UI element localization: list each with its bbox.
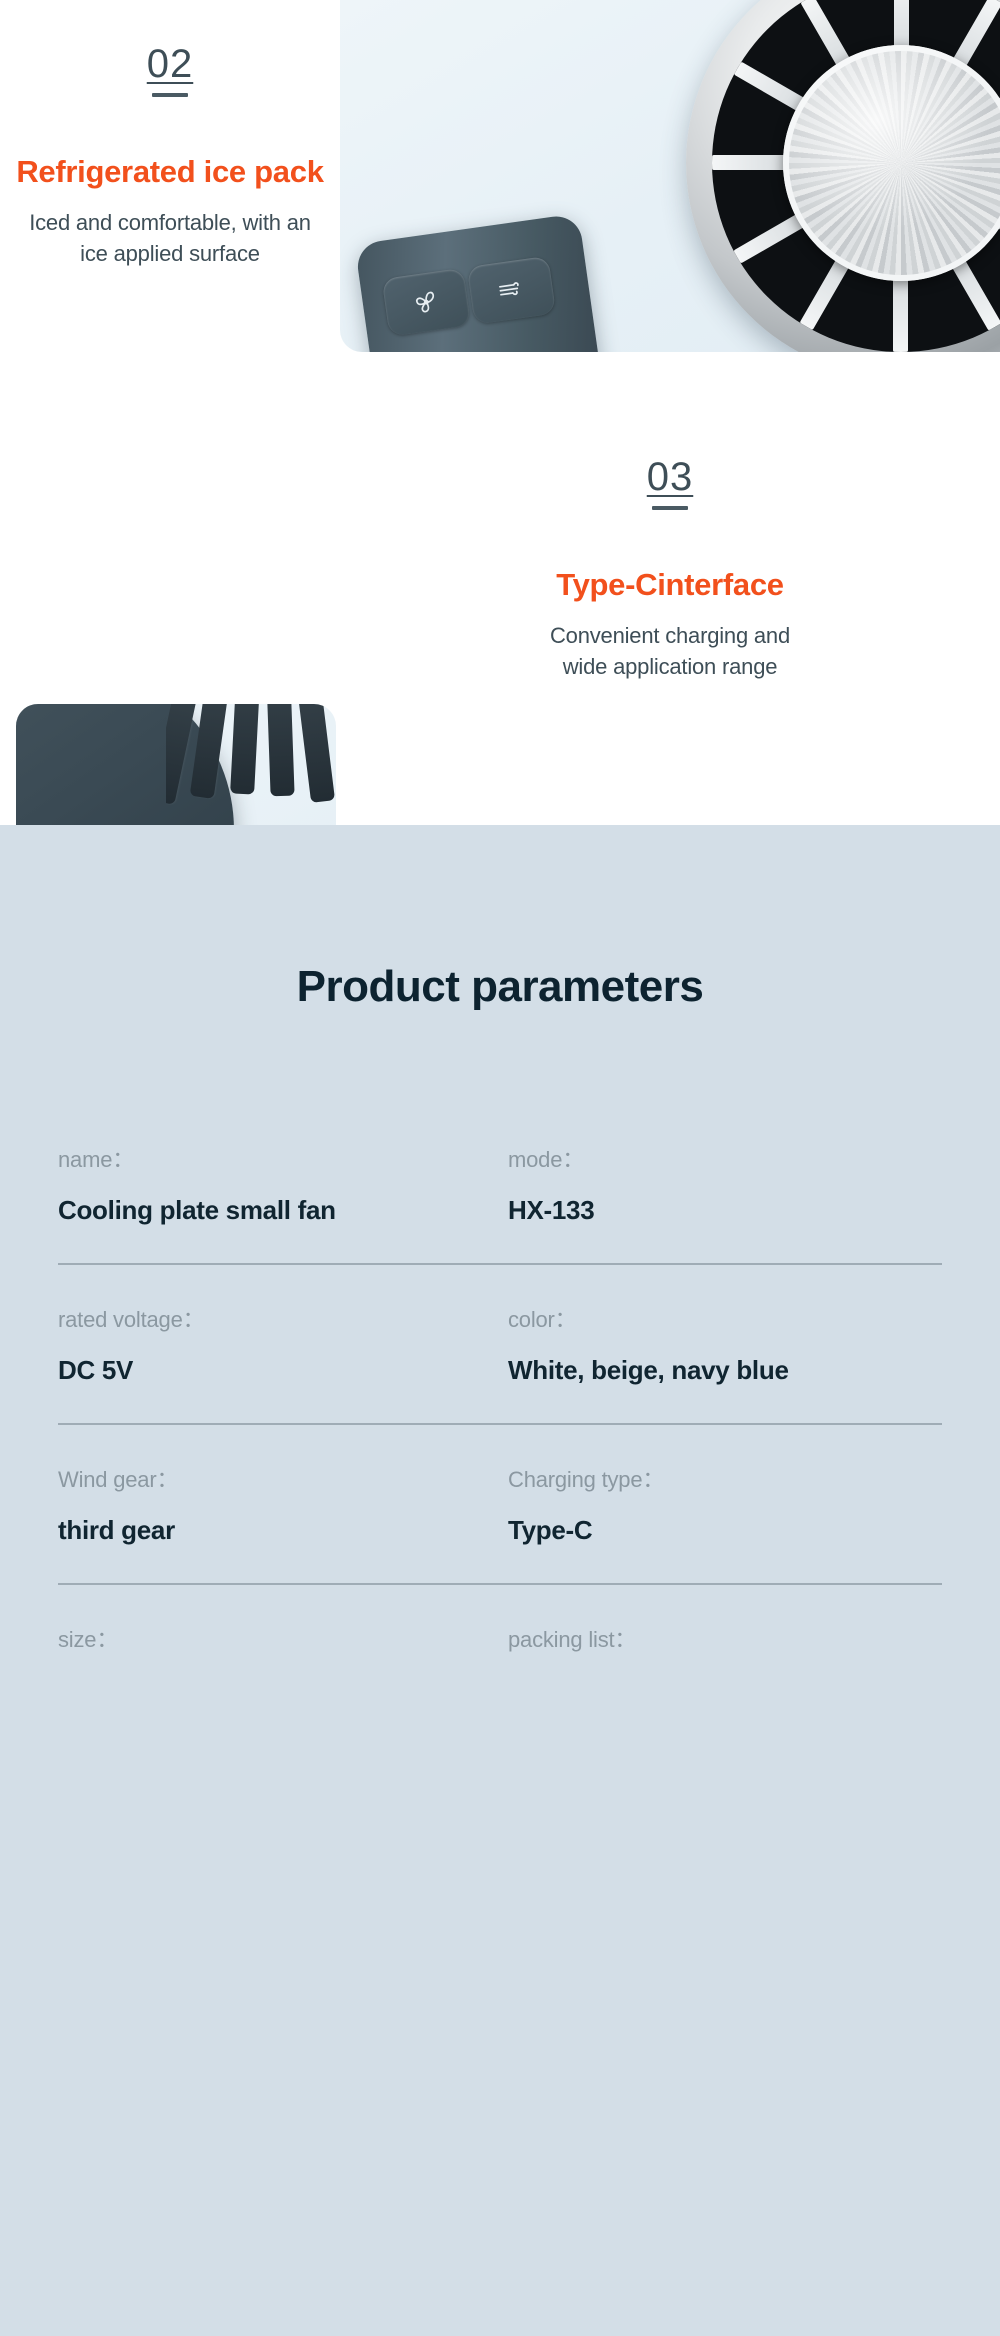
spec-value: DC 5V — [58, 1357, 500, 1383]
feature-02-number: 02 — [147, 44, 194, 84]
spec-value: HX-133 — [508, 1197, 942, 1223]
spec-value: Cooling plate small fan — [58, 1197, 500, 1223]
feature-02-subtitle-line1: Iced and comfortable, with an — [10, 207, 330, 238]
spec-cell-name: name： Cooling plate small fan — [58, 1149, 500, 1223]
product-detail-page: 02 Refrigerated ice pack Iced and comfor… — [0, 0, 1000, 2336]
cooling-plate-icon — [686, 0, 1000, 352]
number-underline-rule — [652, 506, 688, 510]
spec-row: name： Cooling plate small fan mode： HX-1… — [58, 1105, 942, 1263]
spec-row: rated voltage： DC 5V color： White, beige… — [58, 1265, 942, 1423]
fan-speed-button[interactable] — [382, 268, 471, 337]
spec-label: Charging type： — [508, 1469, 942, 1491]
spec-cell-color: color： White, beige, navy blue — [500, 1309, 942, 1383]
spec-row: Wind gear： third gear Charging type： Typ… — [58, 1425, 942, 1583]
feature-03-subtitle-line1: Convenient charging and — [460, 620, 880, 651]
feature-section-03: 03 Type-Cinterface Convenient charging a… — [0, 352, 1000, 825]
feature-03-number: 03 — [647, 457, 694, 497]
spec-value: White, beige, navy blue — [508, 1357, 942, 1383]
spec-cell-rated-voltage: rated voltage： DC 5V — [58, 1309, 500, 1383]
device-handle — [355, 213, 604, 352]
feature-03-text: 03 Type-Cinterface Convenient charging a… — [340, 457, 1000, 683]
spec-label: name： — [58, 1149, 500, 1171]
feature-02-subtitle-line2: ice applied surface — [10, 238, 330, 269]
spec-value: Type-C — [508, 1517, 942, 1543]
spec-cell-packing-list: packing list： — [500, 1629, 942, 1677]
wind-mode-button[interactable] — [467, 256, 556, 325]
feature-02-text: 02 Refrigerated ice pack Iced and comfor… — [0, 44, 340, 270]
product-parameters-heading: Product parameters — [0, 962, 1000, 1012]
feature-03-number-block: 03 — [647, 457, 694, 510]
spec-value: third gear — [58, 1517, 500, 1543]
spec-cell-size: size： — [58, 1629, 500, 1677]
spec-label: color： — [508, 1309, 942, 1331]
feature-03-subtitle: Convenient charging and wide application… — [460, 620, 880, 682]
number-underline-rule — [152, 93, 188, 97]
spec-cell-charging-type: Charging type： Type-C — [500, 1469, 942, 1543]
spec-label: mode： — [508, 1149, 942, 1171]
spec-cell-wind-gear: Wind gear： third gear — [58, 1469, 500, 1543]
spec-cell-mode: mode： HX-133 — [500, 1149, 942, 1223]
feature-02-subtitle: Iced and comfortable, with an ice applie… — [10, 207, 330, 269]
spec-label: size： — [58, 1629, 500, 1651]
spec-label: rated voltage： — [58, 1309, 500, 1331]
feature-section-02: 02 Refrigerated ice pack Iced and comfor… — [0, 0, 1000, 352]
feature-03-title: Type-Cinterface — [556, 568, 784, 602]
product-image-cooling-plate — [340, 0, 1000, 352]
fin-stack — [166, 704, 336, 844]
spec-label: packing list： — [508, 1629, 942, 1651]
fan-blade-icon — [410, 287, 443, 317]
spec-row: size： packing list： — [58, 1585, 942, 1717]
feature-03-subtitle-line2: wide application range — [460, 651, 880, 682]
product-parameters-section: Product parameters name： Cooling plate s… — [0, 825, 1000, 2336]
spec-table: name： Cooling plate small fan mode： HX-1… — [58, 1105, 942, 1717]
feature-02-title: Refrigerated ice pack — [16, 155, 323, 189]
wind-lines-icon — [495, 275, 528, 305]
spec-label: Wind gear： — [58, 1469, 500, 1491]
feature-02-number-block: 02 — [147, 44, 194, 97]
